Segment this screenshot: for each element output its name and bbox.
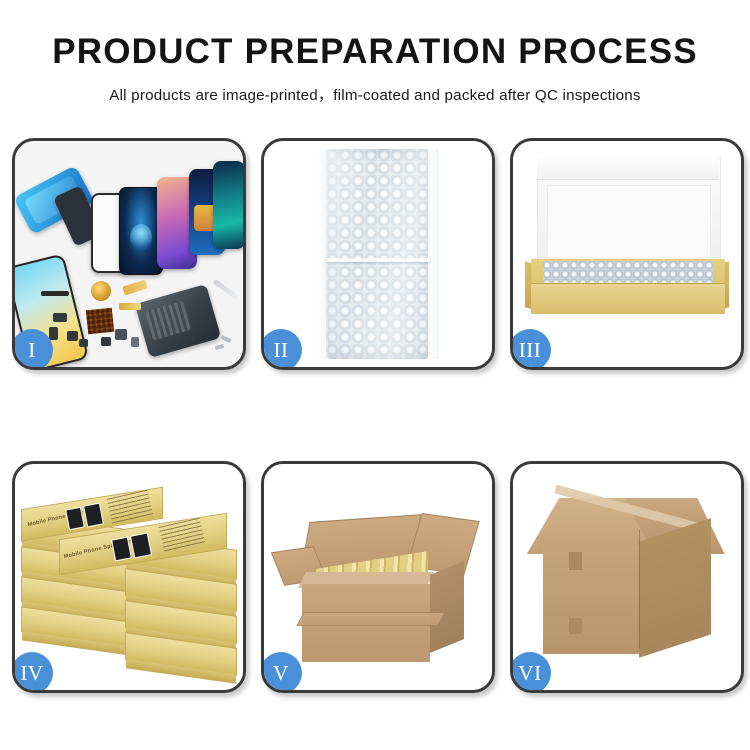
step-panel-2[interactable]: II [261, 138, 495, 370]
small-part-icon-3 [67, 331, 78, 341]
page-header: PRODUCT PREPARATION PROCESS All products… [0, 0, 750, 105]
step-panel-6[interactable]: VI [510, 461, 744, 693]
step-panel-1[interactable]: I [12, 138, 246, 370]
screw-icon-1 [221, 335, 232, 343]
pouch-sheen [326, 149, 430, 359]
small-part-icon-7 [131, 337, 139, 347]
box-lid-inner-panel [547, 185, 711, 263]
small-part-icon-1 [53, 313, 67, 322]
small-part-icon-6 [101, 337, 111, 346]
tape-tab-upper [569, 552, 582, 570]
step-panel-3[interactable]: III [510, 138, 744, 370]
box-front-face [531, 283, 725, 314]
screw-icon-2 [215, 344, 225, 350]
box-stack-image: Mobile Phone Spare Parts Mobile Phone Sp… [15, 464, 243, 690]
step-badge-2: II [261, 329, 302, 370]
sealed-carton-corner-seam [639, 530, 640, 648]
step-6-illustration [513, 464, 741, 690]
small-part-icon-4 [79, 339, 88, 347]
flex-cable-part-icon [122, 280, 148, 296]
process-steps-grid: I II III [12, 138, 738, 693]
teal-gradient-phone-image [213, 161, 243, 249]
chip-grid-part-icon [86, 308, 114, 335]
step-badge-6: VI [510, 652, 551, 693]
step-5-illustration [264, 464, 492, 690]
step-badge-3: III [510, 329, 551, 370]
step-2-illustration [264, 141, 492, 367]
carton-side-face [430, 561, 464, 653]
step-badge-4: IV [12, 652, 53, 693]
sealed-carton-right-face [639, 518, 711, 657]
speaker-bar-part-icon [41, 291, 69, 296]
tape-tab-lower [569, 618, 582, 634]
step-panel-5[interactable]: V [261, 461, 495, 693]
box-lid-fold [537, 157, 719, 180]
gold-coil-part-icon [91, 281, 111, 301]
repair-tool-icon [212, 279, 239, 301]
small-part-icon-5 [115, 329, 127, 340]
page-title: PRODUCT PREPARATION PROCESS [0, 34, 750, 71]
bubble-wrap-pouch-image [326, 149, 430, 359]
sealed-carton-front-face [543, 546, 639, 654]
page-subtitle: All products are image-printed，film-coat… [0, 83, 750, 105]
step-badge-1: I [12, 329, 53, 370]
step-4-illustration: Mobile Phone Spare Parts Mobile Phone Sp… [15, 464, 243, 690]
step-badge-5: V [261, 652, 302, 693]
phone-back-internals-image [135, 284, 222, 358]
flex-cable-part-icon-2 [119, 303, 141, 310]
step-3-illustration [513, 141, 741, 367]
step-panel-4[interactable]: Mobile Phone Spare Parts Mobile Phone Sp… [12, 461, 246, 693]
step-1-illustration [15, 141, 243, 367]
carton-front-flap [296, 612, 445, 626]
small-part-icon-2 [49, 327, 58, 340]
